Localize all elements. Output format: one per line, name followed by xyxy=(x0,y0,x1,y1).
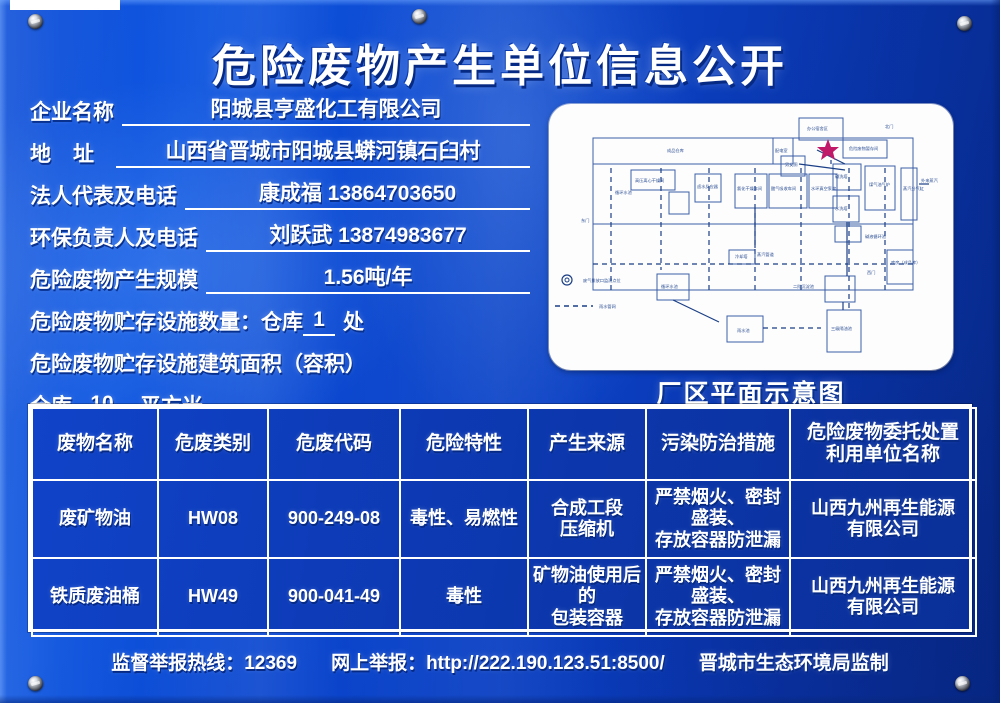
board-top-notch xyxy=(10,0,120,10)
cell-waste-category: HW49 xyxy=(158,558,268,636)
bolt-bottom-right-icon xyxy=(955,676,970,691)
cell-line: 合成工段 xyxy=(532,498,642,519)
hazardous-waste-star-icon xyxy=(817,139,839,160)
bolt-top-right-icon xyxy=(957,16,972,31)
info-label: 企业名称 xyxy=(30,100,114,126)
svg-text:循环水池: 循环水池 xyxy=(661,283,679,290)
info-row-env-officer: 环保负责人及电话 刘跃武 13874983677 xyxy=(30,222,530,252)
cell-waste-name: 铁质废油桶 xyxy=(32,558,158,636)
cell-waste-code: 900-249-08 xyxy=(268,480,400,558)
svg-text:水洗塔: 水洗塔 xyxy=(835,205,848,212)
svg-text:煤气油气炉: 煤气油气炉 xyxy=(869,181,890,188)
cell-waste-code: 900-041-49 xyxy=(268,558,400,636)
cell-waste-category: HW08 xyxy=(158,480,268,558)
board-edge-top xyxy=(0,0,1000,6)
table-header-line: 利用单位名称 xyxy=(794,444,972,466)
cell-source: 合成工段 压缩机 xyxy=(528,480,646,558)
page-title: 危险废物产生单位信息公开 xyxy=(0,30,1000,94)
info-value: 1.56吨/年 xyxy=(206,265,530,294)
cell-hazard-property: 毒性、易燃性 xyxy=(400,480,528,558)
footer-hotline: 监督举报热线：12369 xyxy=(111,648,297,675)
info-value: 阳城县亨盛化工有限公司 xyxy=(122,97,530,126)
cell-disposal-company: 山西九州再生能源 有限公司 xyxy=(790,558,976,636)
company-info-block: 企业名称 阳城县亨盛化工有限公司 地址 山西省晋城市阳城县蟒河镇石臼村 法人代表… xyxy=(30,96,530,432)
bolt-bottom-left-icon xyxy=(28,676,43,691)
storage-area-label: 危险废物贮存设施建筑面积（容积） xyxy=(30,352,366,378)
table-header-cell-disposal: 危险废物委托处置 利用单位名称 xyxy=(790,408,976,480)
info-value: 刘跃武 13874983677 xyxy=(206,223,530,252)
svg-text:碱洗塔: 碱洗塔 xyxy=(835,173,848,180)
svg-text:三级隔油池: 三级隔油池 xyxy=(831,325,853,332)
storage-count-unit: 处 xyxy=(343,310,364,336)
cell-hazard-property: 毒性 xyxy=(400,558,528,636)
cell-disposal-company: 山西九州再生能源 有限公司 xyxy=(790,480,976,558)
svg-text:东门: 东门 xyxy=(581,217,589,224)
cell-measures: 严禁烟火、密封盛装、 存放容器防泄漏 xyxy=(646,558,790,636)
cell-line: 压缩机 xyxy=(532,519,642,540)
svg-text:水环真空泵房: 水环真空泵房 xyxy=(811,185,836,192)
board-edge-right xyxy=(991,0,1000,703)
info-label: 地址 xyxy=(30,142,116,168)
footer-bar: 监督举报热线：12369 网上举报：http://222.190.123.51:… xyxy=(0,648,1000,675)
cell-line: 山西九州再生能源 xyxy=(794,576,972,597)
cell-measures: 严禁烟火、密封盛装、 存放容器防泄漏 xyxy=(646,480,790,558)
svg-text:男女厕: 男女厕 xyxy=(785,161,798,168)
cell-waste-name: 废矿物油 xyxy=(32,480,158,558)
cell-line: 山西九州再生能源 xyxy=(794,498,972,519)
table-header-cell: 废物名称 xyxy=(32,408,158,480)
bolt-top-left-icon xyxy=(28,14,43,29)
svg-text:雨水池: 雨水池 xyxy=(737,327,750,334)
factory-layout-diagram: 成品仓库 配电室 办公宿舍区 危险废物暂存间 北门 高压离心干燥间 卤水反应器 … xyxy=(549,104,953,370)
factory-layout-svg: 成品仓库 配电室 办公宿舍区 危险废物暂存间 北门 高压离心干燥间 卤水反应器 … xyxy=(549,104,953,370)
table-header-row: 废物名称 危废类别 危废代码 危险特性 产生来源 污染防治措施 危险废物委托处置… xyxy=(32,408,976,480)
svg-text:外来蒸汽: 外来蒸汽 xyxy=(921,177,939,184)
info-label: 环保负责人及电话 xyxy=(30,226,198,252)
table-header-cell: 危险特性 xyxy=(400,408,528,480)
table-row: 废矿物油 HW08 900-249-08 毒性、易燃性 合成工段 压缩机 严禁烟… xyxy=(32,480,976,558)
cell-line: 严禁烟火、密封盛装、 xyxy=(650,565,786,607)
svg-text:高压离心干燥间: 高压离心干燥间 xyxy=(635,177,664,184)
board-edge-bottom xyxy=(0,695,1000,703)
info-row-legal-rep: 法人代表及电话 康成福 13864703650 xyxy=(30,180,530,210)
svg-text:二阶沉淀池: 二阶沉淀池 xyxy=(793,283,815,290)
storage-count-label: 危险废物贮存设施数量：仓库 xyxy=(30,310,303,336)
cell-line: 存放容器防泄漏 xyxy=(650,608,786,629)
svg-text:卤水反应器: 卤水反应器 xyxy=(697,183,719,190)
storage-count-value: 1 xyxy=(303,307,335,336)
bolt-top-center-icon xyxy=(412,9,427,24)
svg-text:蒸汽管道: 蒸汽管道 xyxy=(757,251,775,258)
svg-text:库房（成品库）: 库房（成品库） xyxy=(891,259,920,266)
table-header-cell: 产生来源 xyxy=(528,408,646,480)
svg-text:冷却塔: 冷却塔 xyxy=(735,253,748,260)
svg-text:西门: 西门 xyxy=(867,269,875,276)
svg-text:配电室: 配电室 xyxy=(775,147,788,154)
cell-source: 矿物油使用后的 包装容器 xyxy=(528,558,646,636)
svg-text:氯化干燥车间: 氯化干燥车间 xyxy=(737,185,762,192)
table-header-line: 危险废物委托处置 xyxy=(794,422,972,444)
info-label: 法人代表及电话 xyxy=(30,184,177,210)
cell-line: 矿物油使用后的 xyxy=(532,565,642,607)
legend-monitoring-point-icon xyxy=(562,275,572,285)
cell-line: 严禁烟火、密封盛装、 xyxy=(650,487,786,529)
table-header-cell: 污染防治措施 xyxy=(646,408,790,480)
svg-text:循环水池: 循环水池 xyxy=(615,189,633,196)
info-row-address: 地址 山西省晋城市阳城县蟒河镇石臼村 xyxy=(30,138,530,168)
svg-text:北门: 北门 xyxy=(885,123,893,130)
info-row-storage-count: 危险废物贮存设施数量：仓库 1 处 xyxy=(30,306,530,336)
board-edge-left xyxy=(0,0,7,703)
info-label: 危险废物产生规模 xyxy=(30,268,198,294)
svg-text:办公宿舍区: 办公宿舍区 xyxy=(807,125,828,132)
info-row-storage-area-label: 危险废物贮存设施建筑面积（容积） xyxy=(30,348,530,378)
svg-text:雨水管网: 雨水管网 xyxy=(599,303,616,310)
info-value: 山西省晋城市阳城县蟒河镇石臼村 xyxy=(116,139,530,168)
svg-text:酸气吸收车间: 酸气吸收车间 xyxy=(771,185,796,192)
cell-line: 存放容器防泄漏 xyxy=(650,530,786,551)
svg-text:蒸汽分气缸: 蒸汽分气缸 xyxy=(903,185,925,192)
table-row: 铁质废油桶 HW49 900-041-49 毒性 矿物油使用后的 包装容器 严禁… xyxy=(32,558,976,636)
hazardous-waste-table: 废物名称 危废类别 危废代码 危险特性 产生来源 污染防治措施 危险废物委托处置… xyxy=(28,404,972,632)
footer-authority: 晋城市生态环境局监制 xyxy=(699,648,889,675)
cell-line: 包装容器 xyxy=(532,608,642,629)
table-header-cell: 危废代码 xyxy=(268,408,400,480)
svg-text:碱液循环池: 碱液循环池 xyxy=(865,233,887,240)
information-board: 危险废物产生单位信息公开 企业名称 阳城县亨盛化工有限公司 地址 山西省晋城市阳… xyxy=(0,0,1000,703)
svg-text:成品仓库: 成品仓库 xyxy=(667,147,684,154)
table-header-cell: 危废类别 xyxy=(158,408,268,480)
svg-text:危险废物暂存间: 危险废物暂存间 xyxy=(849,145,878,152)
cell-line: 有限公司 xyxy=(794,597,972,618)
info-row-company-name: 企业名称 阳城县亨盛化工有限公司 xyxy=(30,96,530,126)
cell-line: 有限公司 xyxy=(794,519,972,540)
svg-text:废气排放口监测点位: 废气排放口监测点位 xyxy=(583,277,621,284)
footer-online-report: 网上举报：http://222.190.123.51:8500/ xyxy=(331,648,665,675)
info-row-generation-scale: 危险废物产生规模 1.56吨/年 xyxy=(30,264,530,294)
info-value: 康成福 13864703650 xyxy=(185,181,530,210)
